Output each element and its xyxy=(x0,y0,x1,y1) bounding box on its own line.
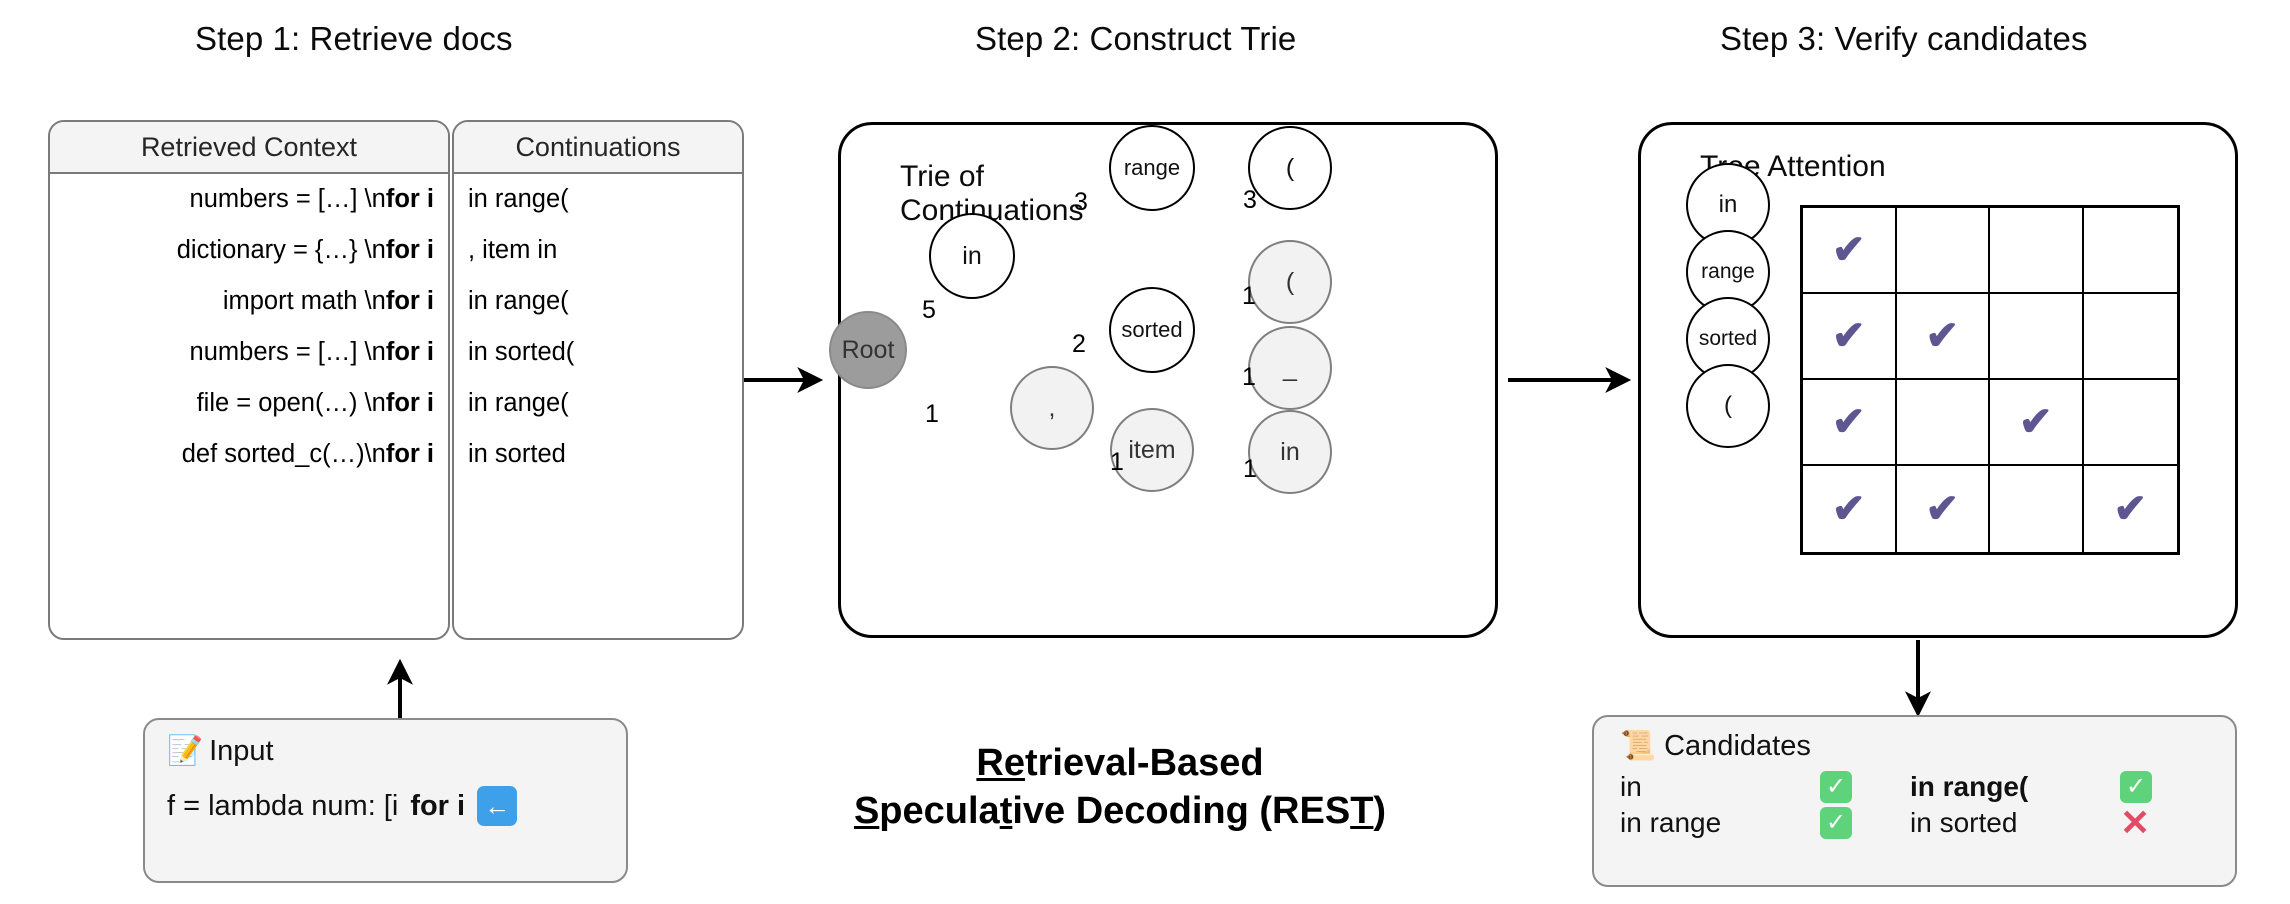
trie-edge-weight-sorted-under: 1 xyxy=(1242,363,1256,392)
continuation-row: in range( xyxy=(454,378,742,429)
trie-edge-weight-comma-item: 1 xyxy=(1110,448,1124,477)
continuations-header: Continuations xyxy=(454,122,742,174)
retrieved-context-header: Retrieved Context xyxy=(50,122,448,174)
figure-title-line-2: Speculative Decoding (REST) xyxy=(790,788,1450,836)
check-icon: ✔ xyxy=(1832,230,1866,270)
attention-cell-r0-c2 xyxy=(1990,208,2084,294)
context-plain: import math \n xyxy=(223,287,386,316)
trie-node-paren1: ( xyxy=(1248,126,1332,210)
figure-title: Retrieval-Based Speculative Decoding (RE… xyxy=(790,740,1450,835)
context-bold: for i xyxy=(386,389,434,418)
attention-cell-r1-c0: ✔ xyxy=(1803,294,1897,380)
candidates-title: 📜 Candidates xyxy=(1620,729,2209,763)
step-2-title: Step 2: Construct Trie xyxy=(975,20,1296,58)
continuation-row: in range( xyxy=(454,174,742,225)
context-bold: for i xyxy=(386,287,434,316)
retrieved-context-row: def sorted_c(…)\n for i xyxy=(50,429,448,480)
candidate-label: in range xyxy=(1620,807,1820,839)
attention-cell-r0-c3 xyxy=(2084,208,2178,294)
memo-pencil-icon: 📝 xyxy=(167,734,203,768)
trie-node-in: in xyxy=(929,213,1015,299)
attention-cell-r2-c3 xyxy=(2084,380,2178,466)
attention-cell-r3-c3: ✔ xyxy=(2084,466,2178,552)
step-1-title: Step 1: Retrieve docs xyxy=(195,20,513,58)
continuation-row: in sorted xyxy=(454,429,742,480)
candidate-label: in xyxy=(1620,771,1820,803)
candidate-accept-icon: ✓ xyxy=(1820,771,1852,803)
retrieved-context-row: numbers = […] \n for i xyxy=(50,327,448,378)
input-code-plain: f = lambda num: [i xyxy=(167,790,398,823)
attention-cell-r0-c0: ✔ xyxy=(1803,208,1897,294)
check-icon: ✔ xyxy=(1832,316,1866,356)
retrieved-context-table: Retrieved Context numbers = […] \n for i… xyxy=(48,120,450,640)
continuations-rows: in range(, item inin range(in sorted(in … xyxy=(454,174,742,480)
candidate-label: in range( xyxy=(1910,771,2120,803)
trie-node-in2: in xyxy=(1248,410,1332,494)
retrieved-context-row: file = open(…) \n for i xyxy=(50,378,448,429)
input-box-title: 📝 Input xyxy=(167,734,604,768)
attention-matrix: ✔✔✔✔✔✔✔✔ xyxy=(1800,205,2180,555)
attention-cell-r0-c1 xyxy=(1897,208,1991,294)
attention-cell-r3-c1: ✔ xyxy=(1897,466,1991,552)
trie-edge-weight-root-comma: 1 xyxy=(925,400,939,429)
context-bold: for i xyxy=(386,185,434,214)
figure-title-line-1: Retrieval-Based xyxy=(790,740,1450,788)
context-bold: for i xyxy=(386,236,434,265)
figure-title-line2-mid2: ive Decoding (RES xyxy=(1012,790,1350,832)
figure-title-u-t2: T xyxy=(1350,790,1373,832)
trie-edge-weight-range-paren1: 3 xyxy=(1243,186,1257,215)
retrieved-context-rows: numbers = […] \n for idictionary = {…} \… xyxy=(50,174,448,480)
retrieved-context-row: import math \n for i xyxy=(50,276,448,327)
check-icon: ✔ xyxy=(1925,316,1959,356)
figure-title-u-s: S xyxy=(854,790,879,832)
trie-edge-weight-in-sorted: 2 xyxy=(1072,330,1086,359)
continuation-row: in range( xyxy=(454,276,742,327)
check-icon: ✔ xyxy=(1832,402,1866,442)
left-arrow-key-icon: ← xyxy=(477,786,517,826)
candidate-label: in sorted xyxy=(1910,807,2120,839)
attention-cell-r1-c2 xyxy=(1990,294,2084,380)
candidates-title-text: Candidates xyxy=(1664,730,1811,763)
input-label-text: Input xyxy=(209,735,274,768)
scroll-icon: 📜 xyxy=(1620,729,1656,763)
figure-title-line2-post: ) xyxy=(1373,790,1386,832)
candidates-list: in✓in range(✓in range✓in sorted✕ xyxy=(1620,771,2209,841)
trie-node-comma: , xyxy=(1010,366,1094,450)
attention-cell-r2-c2: ✔ xyxy=(1990,380,2084,466)
context-plain: dictionary = {…} \n xyxy=(177,236,386,265)
continuation-row: in sorted( xyxy=(454,327,742,378)
context-plain: file = open(…) \n xyxy=(197,389,386,418)
check-icon: ✔ xyxy=(2113,489,2147,529)
context-plain: def sorted_c(…)\n xyxy=(182,440,386,469)
check-icon: ✔ xyxy=(2019,402,2053,442)
figure-title-u-t1: t xyxy=(1000,790,1013,832)
candidates-box: 📜 Candidates in✓in range(✓in range✓in so… xyxy=(1592,715,2237,887)
attention-cell-r2-c1 xyxy=(1897,380,1991,466)
figure-title-line2-mid: pecula xyxy=(879,790,999,832)
check-icon: ✔ xyxy=(1832,489,1866,529)
context-bold: for i xyxy=(386,338,434,367)
trie-edge-weight-sorted-paren2: 1 xyxy=(1242,282,1256,311)
input-code-line: f = lambda num: [i for i ← xyxy=(167,786,604,826)
candidate-accept-icon: ✓ xyxy=(1820,807,1852,839)
continuation-row: , item in xyxy=(454,225,742,276)
step-3-title: Step 3: Verify candidates xyxy=(1720,20,2088,58)
candidate-reject-icon: ✕ xyxy=(2120,805,2190,841)
figure-title-u-re: Re xyxy=(976,742,1025,784)
trie-node-range: range xyxy=(1109,125,1195,211)
attention-cell-r1-c3 xyxy=(2084,294,2178,380)
figure-title-line1-post: trieval-Based xyxy=(1025,742,1264,784)
candidate-accept-icon: ✓ xyxy=(2120,771,2152,803)
trie-node-under: _ xyxy=(1248,326,1332,410)
trie-edge-weight-item-in2: 1 xyxy=(1243,455,1257,484)
trie-node-root: Root xyxy=(829,311,907,389)
context-bold: for i xyxy=(386,440,434,469)
input-code-bold: for i xyxy=(410,790,465,823)
attention-cell-r1-c1: ✔ xyxy=(1897,294,1991,380)
trie-edge-weight-root-in: 5 xyxy=(922,296,936,325)
retrieved-context-row: numbers = […] \n for i xyxy=(50,174,448,225)
context-plain: numbers = […] \n xyxy=(190,338,386,367)
trie-node-paren2: ( xyxy=(1248,240,1332,324)
context-plain: numbers = […] \n xyxy=(190,185,386,214)
attention-row-label-: ( xyxy=(1686,364,1770,448)
attention-cell-r3-c2 xyxy=(1990,466,2084,552)
check-icon: ✔ xyxy=(1925,489,1959,529)
attention-cell-r2-c0: ✔ xyxy=(1803,380,1897,466)
input-box[interactable]: 📝 Input f = lambda num: [i for i ← xyxy=(143,718,628,883)
attention-cell-r3-c0: ✔ xyxy=(1803,466,1897,552)
continuations-table: Continuations in range(, item inin range… xyxy=(452,120,744,640)
trie-edge-weight-in-range: 3 xyxy=(1074,188,1088,217)
retrieved-context-row: dictionary = {…} \n for i xyxy=(50,225,448,276)
trie-node-sorted: sorted xyxy=(1109,287,1195,373)
